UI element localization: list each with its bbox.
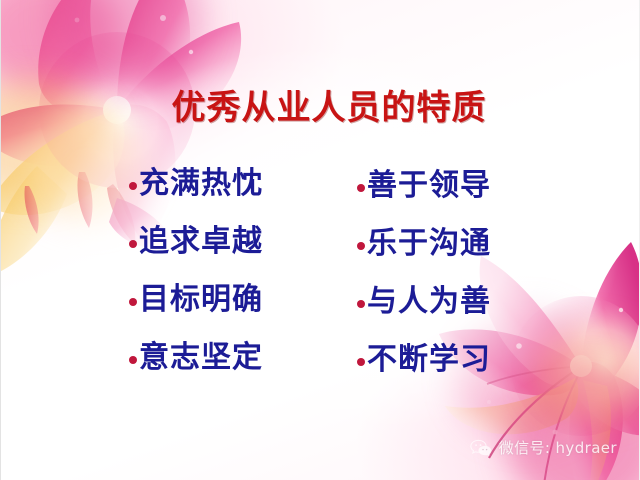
bullet-label: 乐于沟通	[367, 227, 491, 261]
bullet-label: 目标明确	[139, 283, 263, 317]
watermark: 微信号: hydraer	[470, 437, 617, 458]
wechat-icon	[470, 438, 492, 458]
bullet-dot-icon	[357, 358, 365, 366]
bullet-label: 充满热忱	[139, 167, 263, 201]
bullet-column-right: 善于领导 乐于沟通 与人为善 不断学习	[357, 160, 529, 384]
bullet-dot-icon	[129, 182, 137, 190]
bullet-dot-icon	[129, 298, 137, 306]
bullet-dot-icon	[129, 240, 137, 248]
bullet-columns: 充满热忱 追求卓越 目标明确 意志坚定 善于领导	[129, 160, 529, 384]
list-item: 善于领导	[357, 162, 529, 210]
bullet-label: 追求卓越	[139, 225, 263, 259]
bullet-label: 善于领导	[367, 169, 491, 203]
slide-canvas: 优秀从业人员的特质 充满热忱 追求卓越 目标明确 意志坚定	[0, 0, 640, 480]
bullet-dot-icon	[357, 242, 365, 250]
bullet-dot-icon	[357, 184, 365, 192]
list-item: 意志坚定	[129, 334, 301, 382]
bullet-column-left: 充满热忱 追求卓越 目标明确 意志坚定	[129, 160, 301, 384]
bullet-dot-icon	[129, 356, 137, 364]
list-item: 目标明确	[129, 276, 301, 324]
list-item: 不断学习	[357, 336, 529, 384]
bullet-dot-icon	[357, 300, 365, 308]
slide-content: 优秀从业人员的特质 充满热忱 追求卓越 目标明确 意志坚定	[1, 0, 639, 480]
list-item: 追求卓越	[129, 218, 301, 266]
list-item: 乐于沟通	[357, 220, 529, 268]
watermark-text: 微信号: hydraer	[499, 437, 617, 458]
bullet-label: 与人为善	[367, 285, 491, 319]
bullet-label: 意志坚定	[139, 341, 263, 375]
page-title: 优秀从业人员的特质	[1, 88, 639, 128]
list-item: 与人为善	[357, 278, 529, 326]
bullet-label: 不断学习	[367, 343, 491, 377]
list-item: 充满热忱	[129, 160, 301, 208]
